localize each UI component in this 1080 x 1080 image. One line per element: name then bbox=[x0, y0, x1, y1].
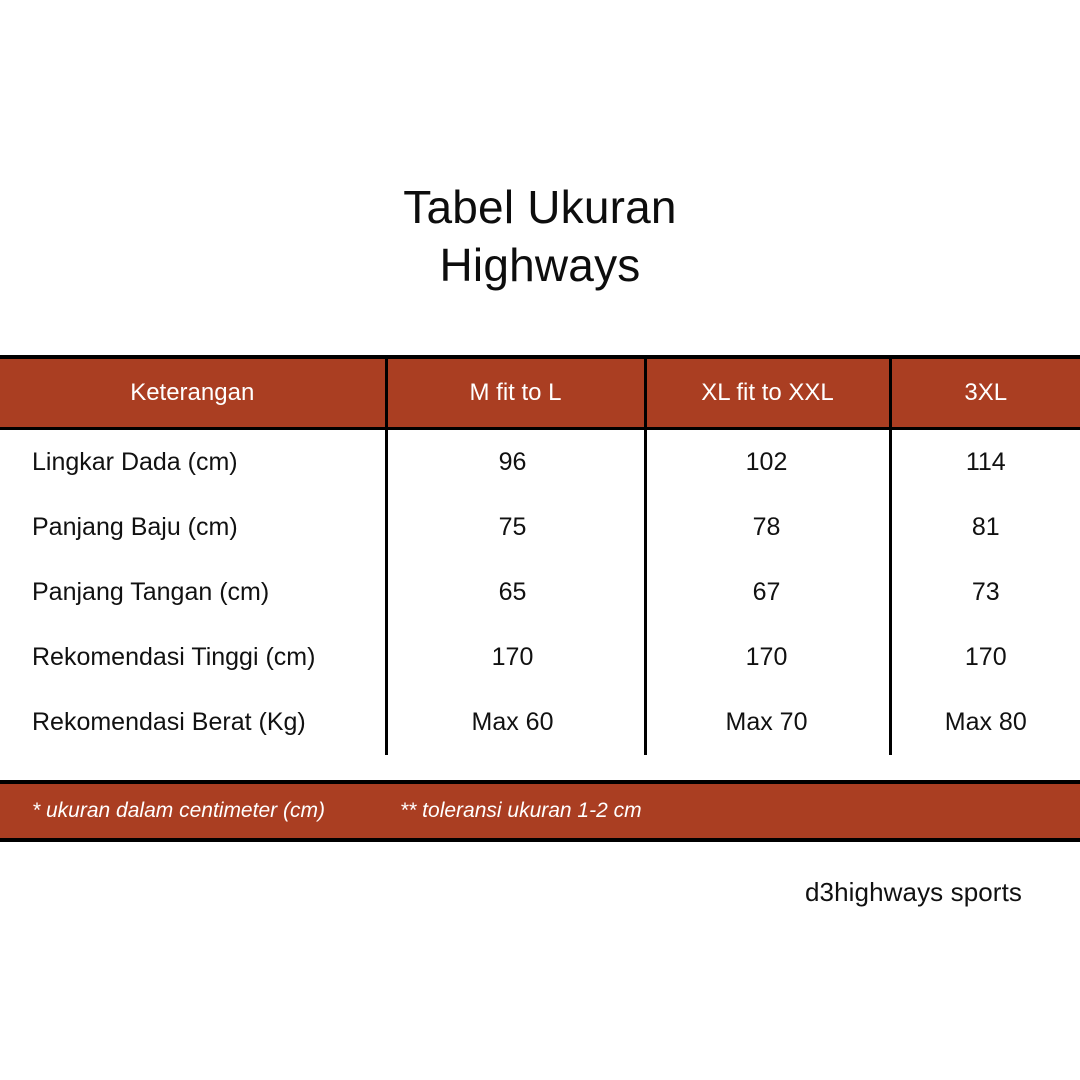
size-chart-table: Keterangan M fit to L XL fit to XXL 3XL … bbox=[0, 355, 1080, 755]
column-header-keterangan: Keterangan bbox=[0, 357, 386, 429]
table-row: Lingkar Dada (cm) 96 102 114 bbox=[0, 429, 1080, 496]
brand-label: d3highways sports bbox=[805, 877, 1022, 908]
cell-panjang-tangan-3xl: 73 bbox=[890, 560, 1080, 625]
footnote-unit: * ukuran dalam centimeter (cm) bbox=[32, 799, 325, 823]
table-header-row: Keterangan M fit to L XL fit to XXL 3XL bbox=[0, 357, 1080, 429]
table-row: Rekomendasi Berat (Kg) Max 60 Max 70 Max… bbox=[0, 690, 1080, 755]
row-label-panjang-tangan: Panjang Tangan (cm) bbox=[0, 560, 386, 625]
footnote-tolerance: ** toleransi ukuran 1-2 cm bbox=[400, 799, 642, 823]
page-title-line-2: Highways bbox=[0, 236, 1080, 294]
cell-panjang-baju-m: 75 bbox=[386, 495, 645, 560]
cell-panjang-tangan-xl: 67 bbox=[645, 560, 890, 625]
cell-rekomendasi-berat-3xl: Max 80 bbox=[890, 690, 1080, 755]
cell-rekomendasi-tinggi-m: 170 bbox=[386, 625, 645, 690]
page-title-line-1: Tabel Ukuran bbox=[0, 178, 1080, 236]
cell-lingkar-dada-xl: 102 bbox=[645, 429, 890, 496]
cell-lingkar-dada-m: 96 bbox=[386, 429, 645, 496]
footnote-bar: * ukuran dalam centimeter (cm) ** tolera… bbox=[0, 780, 1080, 842]
cell-rekomendasi-berat-m: Max 60 bbox=[386, 690, 645, 755]
cell-lingkar-dada-3xl: 114 bbox=[890, 429, 1080, 496]
table-row: Panjang Baju (cm) 75 78 81 bbox=[0, 495, 1080, 560]
row-label-rekomendasi-berat: Rekomendasi Berat (Kg) bbox=[0, 690, 386, 755]
row-label-rekomendasi-tinggi: Rekomendasi Tinggi (cm) bbox=[0, 625, 386, 690]
cell-rekomendasi-tinggi-xl: 170 bbox=[645, 625, 890, 690]
cell-panjang-baju-xl: 78 bbox=[645, 495, 890, 560]
table-row: Panjang Tangan (cm) 65 67 73 bbox=[0, 560, 1080, 625]
size-chart-page: Tabel Ukuran Highways Keterangan M fit t… bbox=[0, 0, 1080, 1080]
page-title: Tabel Ukuran Highways bbox=[0, 178, 1080, 294]
column-header-m-fit-to-l: M fit to L bbox=[386, 357, 645, 429]
row-label-panjang-baju: Panjang Baju (cm) bbox=[0, 495, 386, 560]
cell-rekomendasi-tinggi-3xl: 170 bbox=[890, 625, 1080, 690]
row-label-lingkar-dada: Lingkar Dada (cm) bbox=[0, 429, 386, 496]
cell-rekomendasi-berat-xl: Max 70 bbox=[645, 690, 890, 755]
column-header-xl-fit-to-xxl: XL fit to XXL bbox=[645, 357, 890, 429]
column-header-3xl: 3XL bbox=[890, 357, 1080, 429]
table-row: Rekomendasi Tinggi (cm) 170 170 170 bbox=[0, 625, 1080, 690]
cell-panjang-tangan-m: 65 bbox=[386, 560, 645, 625]
cell-panjang-baju-3xl: 81 bbox=[890, 495, 1080, 560]
